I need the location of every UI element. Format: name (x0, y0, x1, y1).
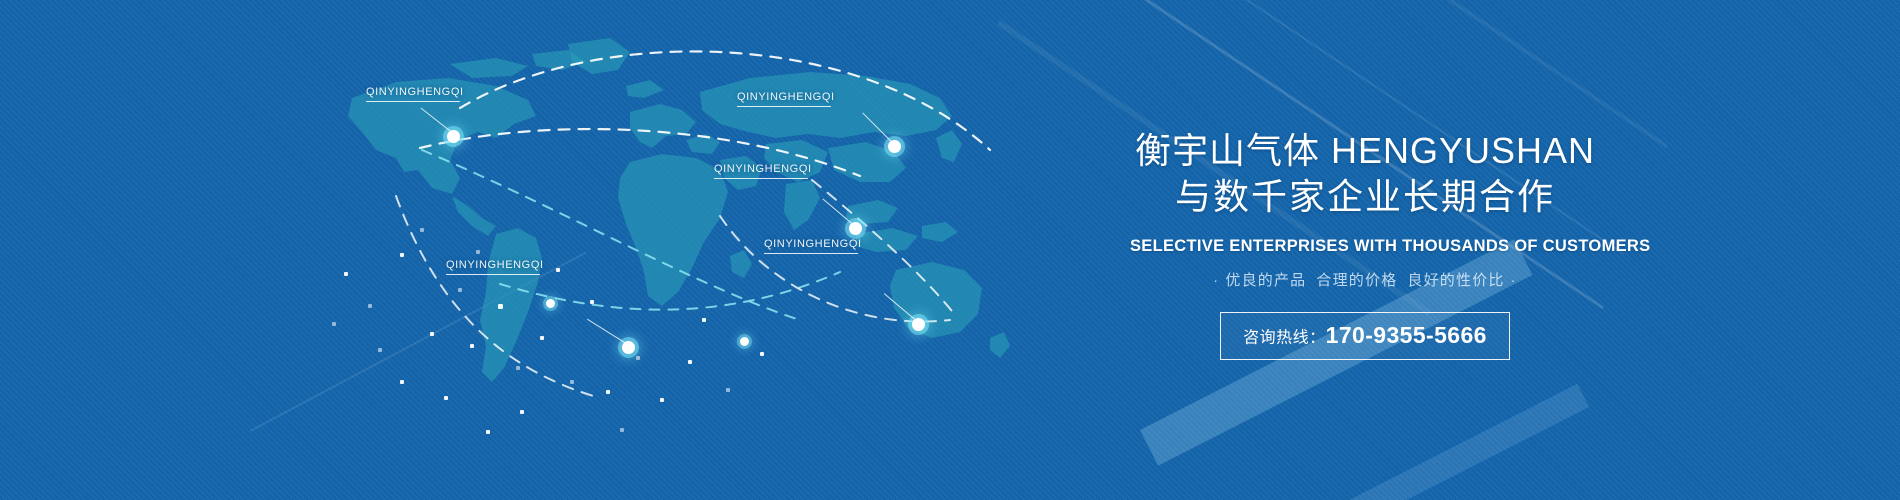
hotline-label: 咨询热线： (1243, 330, 1326, 347)
hotline-number: 170-9355-5666 (1326, 322, 1487, 348)
headline-line-2: 与数千家企业长期合作 (1130, 174, 1600, 220)
subtitle-english: SELECTIVE ENTERPRISES WITH THOUSANDS OF … (1130, 237, 1600, 256)
hero-banner: QINYINGHENGQI QINYINGHENGQI QINYINGHENGQ… (0, 0, 1900, 500)
hero-content: 衡宇山气体 HENGYUSHAN 与数千家企业长期合作 SELECTIVE EN… (1130, 128, 1600, 360)
hotline-button[interactable]: 咨询热线：170-9355-5666 (1220, 312, 1510, 360)
tagline-item-2: 合理的价格 (1316, 272, 1397, 289)
tagline-right-dot: · (1505, 272, 1523, 289)
tagline-item-1: 优良的产品 (1225, 272, 1306, 289)
headline-line-1: 衡宇山气体 HENGYUSHAN (1130, 128, 1600, 174)
tagline-item-3: 良好的性价比 (1407, 272, 1504, 289)
tagline-left-dot: · (1207, 272, 1225, 289)
tagline: ·优良的产品合理的价格良好的性价比· (1130, 269, 1600, 290)
